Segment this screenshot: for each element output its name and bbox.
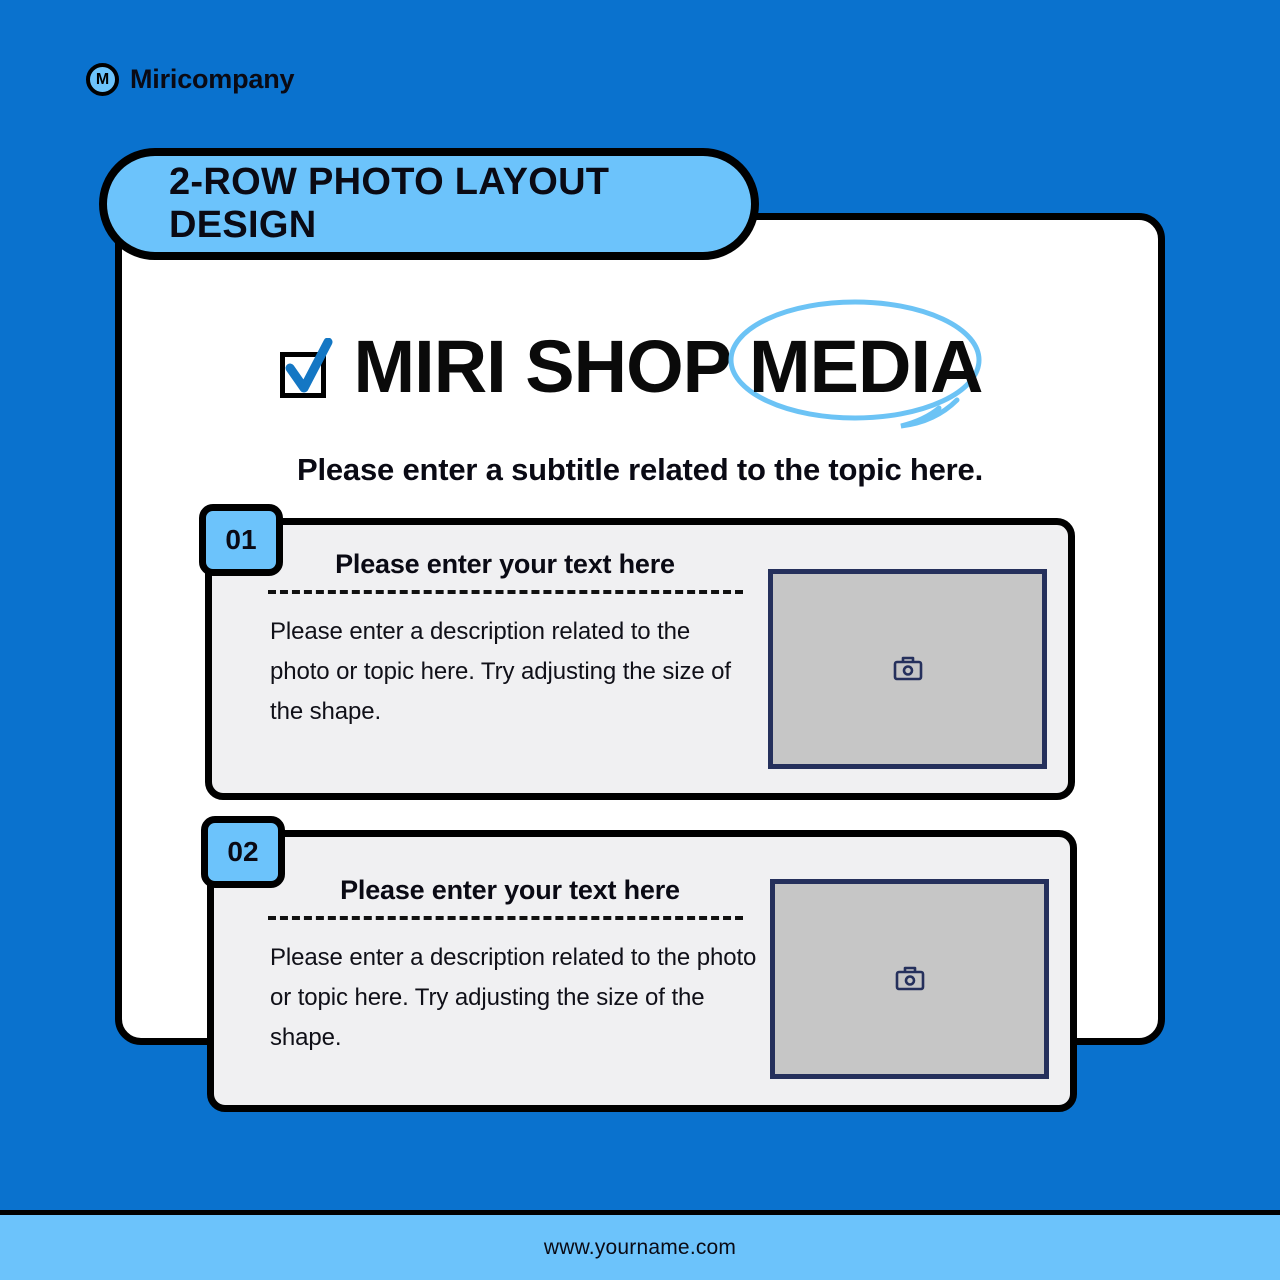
card-divider: [268, 916, 743, 920]
title-highlighted-wrap: MEDIA: [731, 330, 1000, 404]
page-title: MIRI SHOP MEDIA: [115, 330, 1165, 404]
footer-bar: www.yourname.com: [0, 1215, 1280, 1280]
camera-icon: [893, 656, 923, 682]
content-card[interactable]: 01 Please enter your text here Please en…: [205, 518, 1075, 800]
card-title: Please enter your text here: [260, 549, 750, 580]
title-main: MIRI SHOP: [354, 330, 731, 404]
title-highlighted: MEDIA: [749, 325, 982, 408]
photo-placeholder[interactable]: [768, 569, 1047, 769]
header-badge: 2-ROW PHOTO LAYOUT DESIGN: [99, 148, 759, 260]
header-badge-label: 2-ROW PHOTO LAYOUT DESIGN: [169, 161, 751, 247]
brand-name: Miricompany: [130, 64, 294, 95]
poster-canvas: M Miricompany 2-ROW PHOTO LAYOUT DESIGN …: [0, 0, 1280, 1280]
brand-logo: M Miricompany: [86, 63, 294, 96]
checkbox-checked-icon: [280, 344, 332, 396]
camera-icon: [895, 966, 925, 992]
page-subtitle: Please enter a subtitle related to the t…: [115, 452, 1165, 488]
brand-mark-icon: M: [86, 63, 119, 96]
card-title: Please enter your text here: [260, 875, 760, 906]
card-description: Please enter a description related to th…: [260, 938, 762, 1057]
footer-website[interactable]: www.yourname.com: [544, 1236, 736, 1260]
content-card[interactable]: 02 Please enter your text here Please en…: [207, 830, 1077, 1112]
card-text-block: Please enter your text here Please enter…: [260, 549, 750, 731]
card-number-badge: 02: [201, 816, 285, 888]
card-text-block: Please enter your text here Please enter…: [260, 875, 760, 1057]
card-number-badge: 01: [199, 504, 283, 576]
card-description: Please enter a description related to th…: [260, 612, 750, 731]
card-divider: [268, 590, 743, 594]
photo-placeholder[interactable]: [770, 879, 1049, 1079]
